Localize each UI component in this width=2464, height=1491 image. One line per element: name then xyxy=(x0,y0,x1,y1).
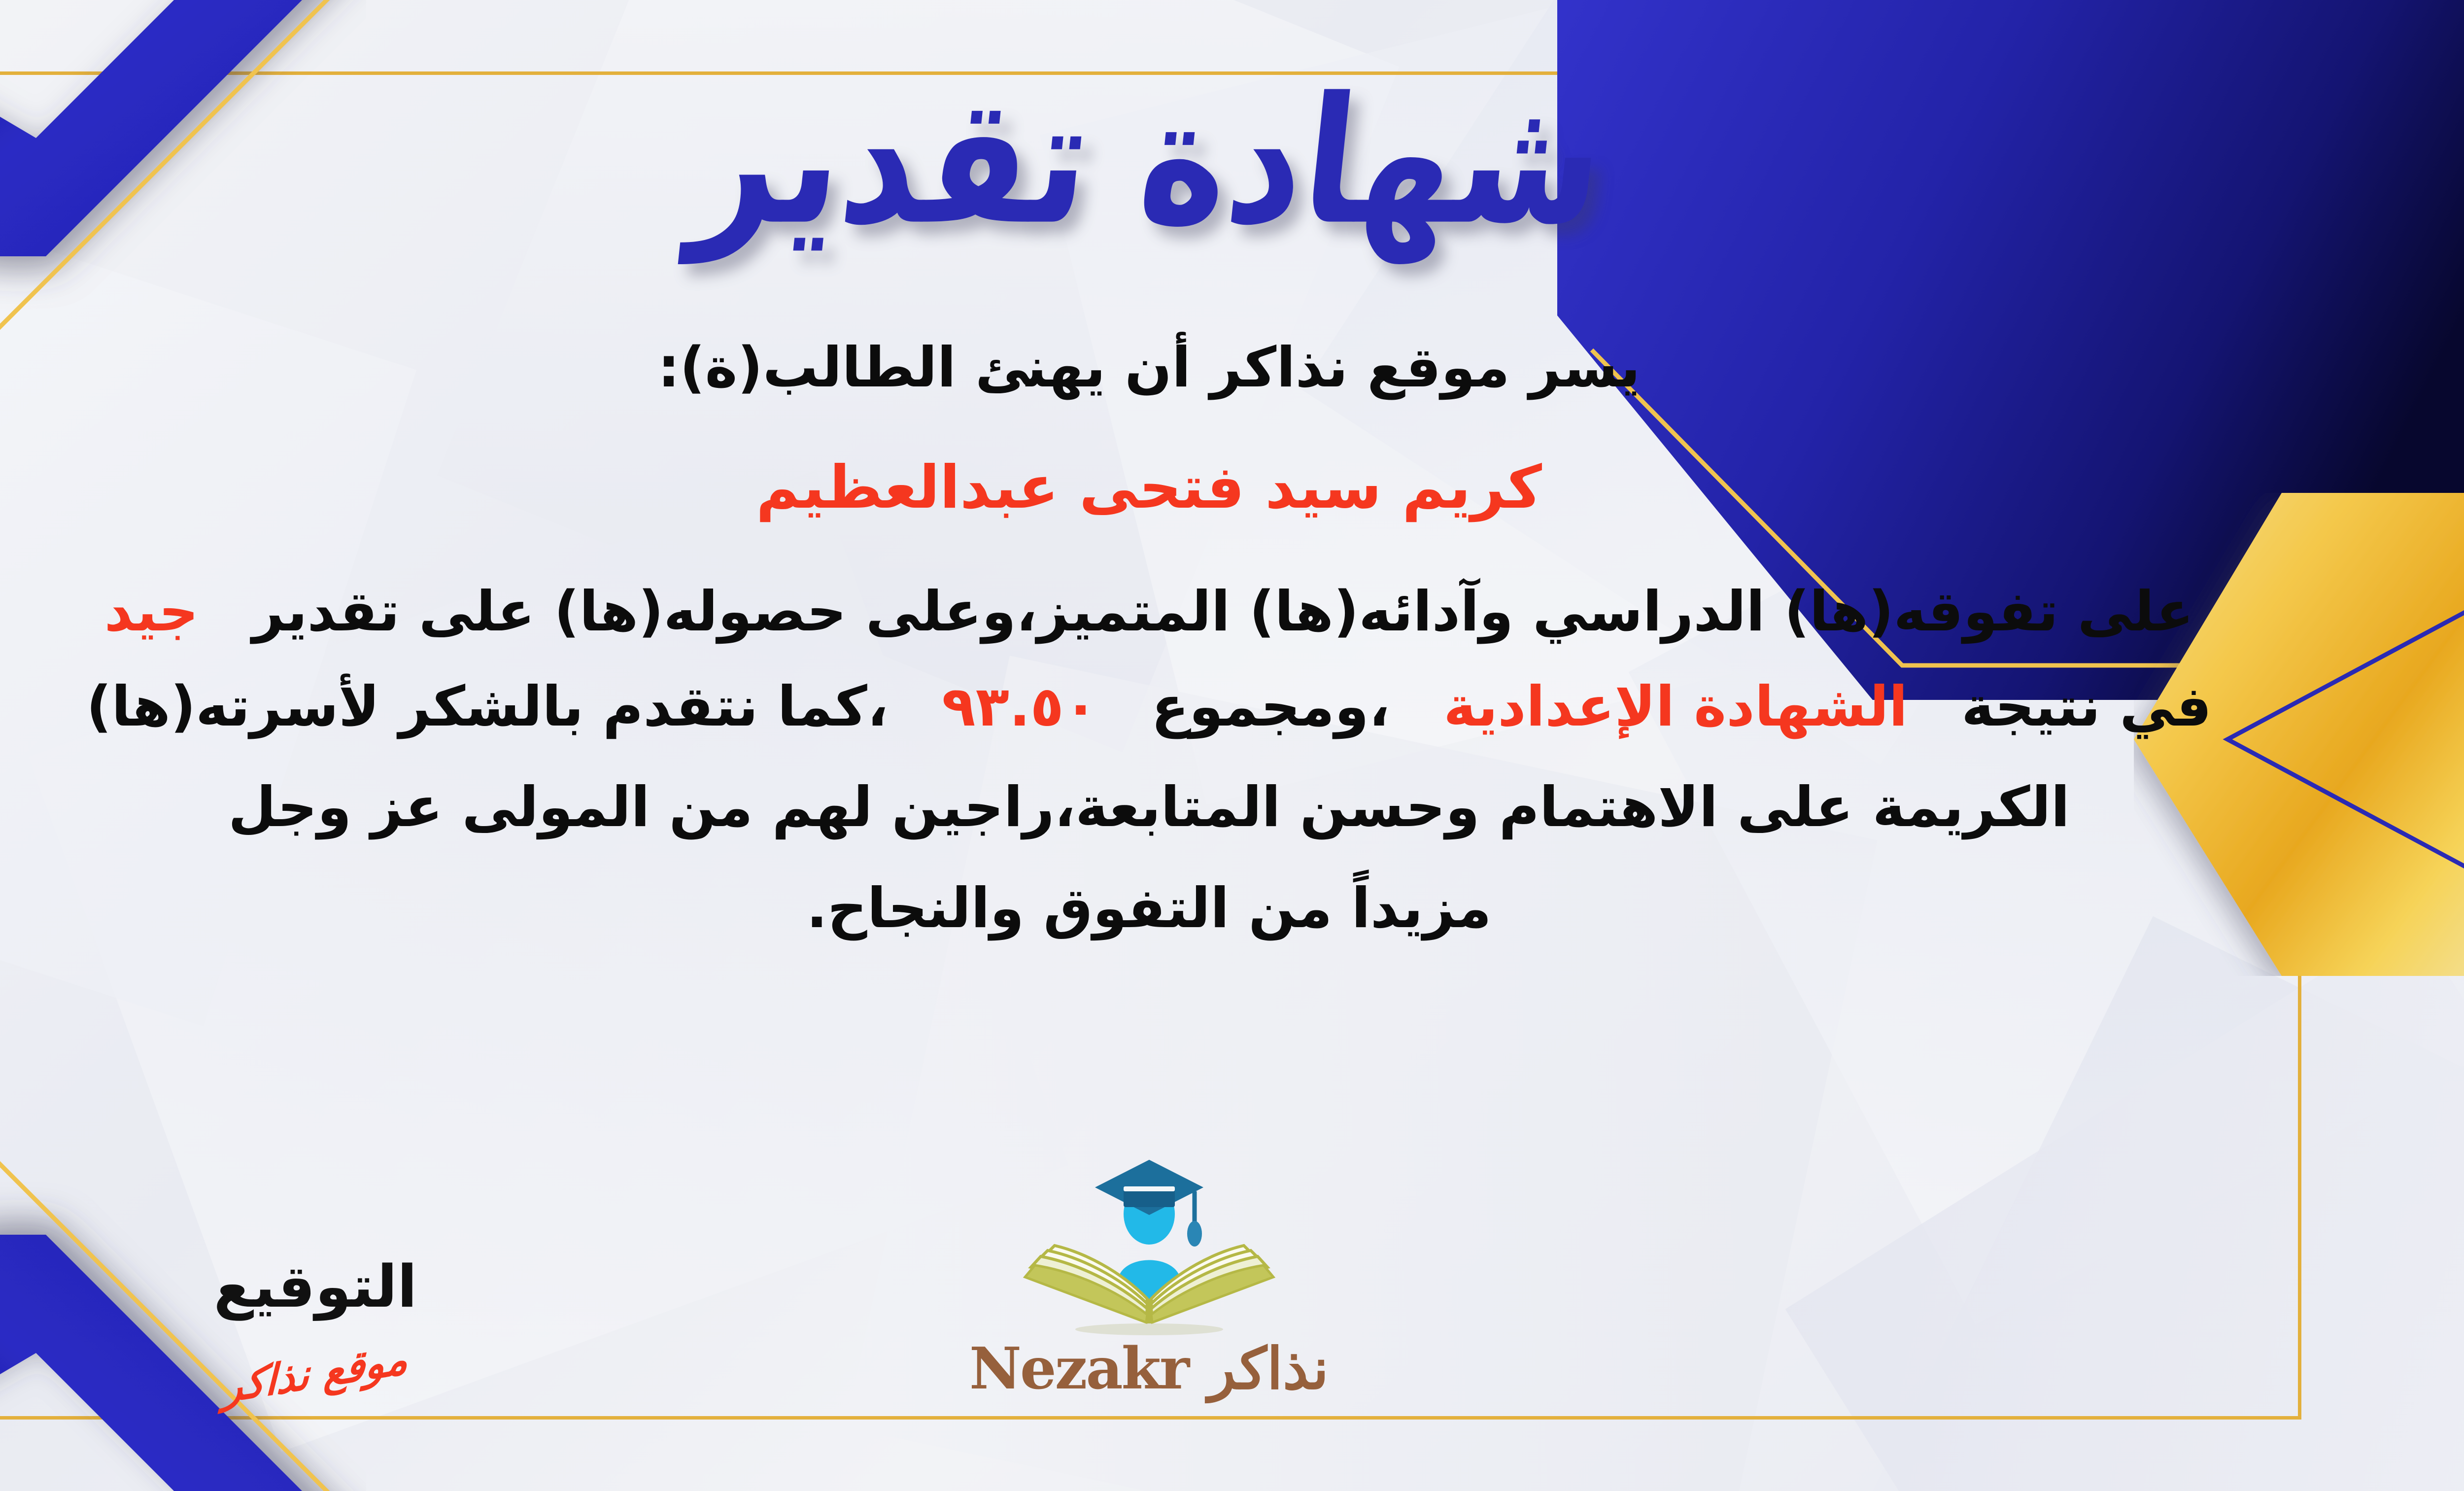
score-prefix-text: ،ومجموع xyxy=(1151,675,1390,739)
exam-and-score-line: في نتيجة الشهادة الإعدادية ،ومجموع ٩٣.٥٠… xyxy=(40,659,2258,755)
certificate-title: شهادة تقدير xyxy=(685,70,1612,253)
thanks-text: ،كما نتقدم بالشكر لأسرته(ها) xyxy=(86,675,888,739)
achievement-text: على تفوقه(ها) الدراسي وآدائه(ها) المتميز… xyxy=(252,580,2194,644)
logo-wordmark: نذاكر Nezakr xyxy=(927,1335,1371,1402)
site-logo: نذاكر Nezakr xyxy=(927,1151,1371,1402)
signature-label: التوقيع xyxy=(113,1255,517,1319)
family-thanks-line: الكريمة على الاهتمام وحسن المتابعة،راجين… xyxy=(40,760,2258,855)
achievement-line: على تفوقه(ها) الدراسي وآدائه(ها) المتميز… xyxy=(40,564,2258,659)
signature-handwriting: موقع نذاكر xyxy=(223,1334,409,1413)
certificate-body: يسر موقع نذاكر أن يهنئ الطالب(ة): كريم س… xyxy=(40,320,2258,956)
total-score: ٩٣.٥٠ xyxy=(942,675,1097,739)
certificate-footer: التوقيع موقع نذاكر xyxy=(0,1126,2464,1402)
closing-wish-line: مزيداً من التفوق والنجاح. xyxy=(40,861,2258,956)
graduate-over-open-book-icon xyxy=(1021,1151,1277,1348)
exam-prefix-text: في نتيجة xyxy=(1961,675,2212,739)
exam-name: الشهادة الإعدادية xyxy=(1443,675,1908,739)
grade-value: جيد xyxy=(104,580,199,644)
student-name: كريم سيد فتحى عبدالعظيم xyxy=(40,437,2258,539)
greeting-line: يسر موقع نذاكر أن يهنئ الطالب(ة): xyxy=(40,320,2258,416)
signature-block: التوقيع موقع نذاكر xyxy=(113,1255,517,1397)
certificate-page: شهادة تقدير يسر موقع نذاكر أن يهنئ الطال… xyxy=(0,0,2464,1491)
